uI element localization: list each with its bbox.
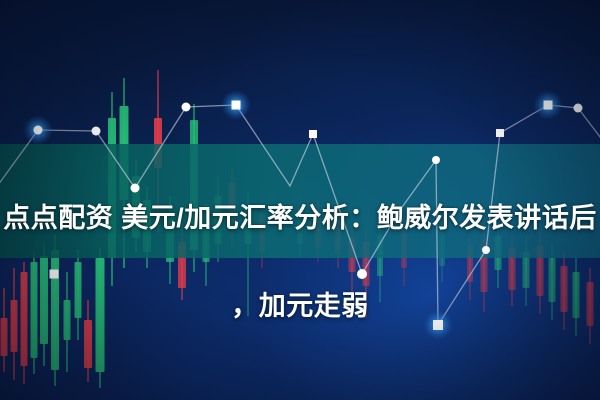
headline-line-2: ，加元走弱 bbox=[0, 284, 600, 328]
headline-line-1: 点点配资 美元/加元汇率分析：鲍威尔发表讲话后 bbox=[0, 196, 600, 240]
banner-image: 点点配资 美元/加元汇率分析：鲍威尔发表讲话后 ，加元走弱 bbox=[0, 0, 600, 400]
headline: 点点配资 美元/加元汇率分析：鲍威尔发表讲话后 ，加元走弱 bbox=[0, 152, 600, 372]
